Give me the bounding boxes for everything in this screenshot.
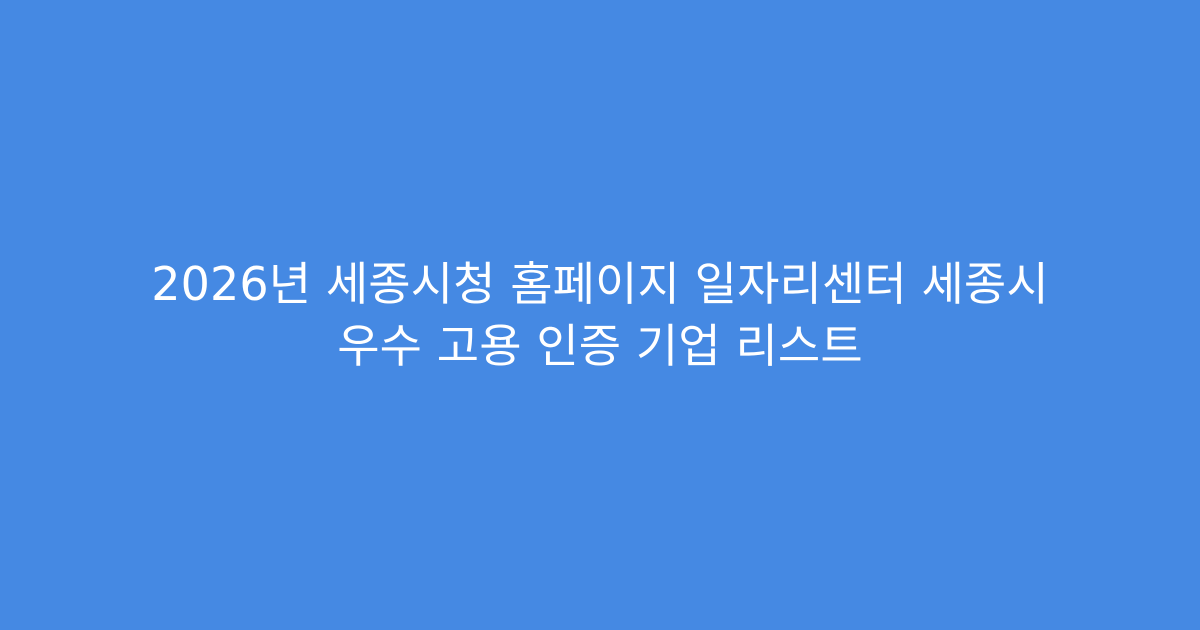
social-share-card: 2026년 세종시청 홈페이지 일자리센터 세종시 우수 고용 인증 기업 리스… xyxy=(0,0,1200,630)
page-title: 2026년 세종시청 홈페이지 일자리센터 세종시 우수 고용 인증 기업 리스… xyxy=(112,253,1088,377)
title-block: 2026년 세종시청 홈페이지 일자리센터 세종시 우수 고용 인증 기업 리스… xyxy=(100,253,1100,377)
